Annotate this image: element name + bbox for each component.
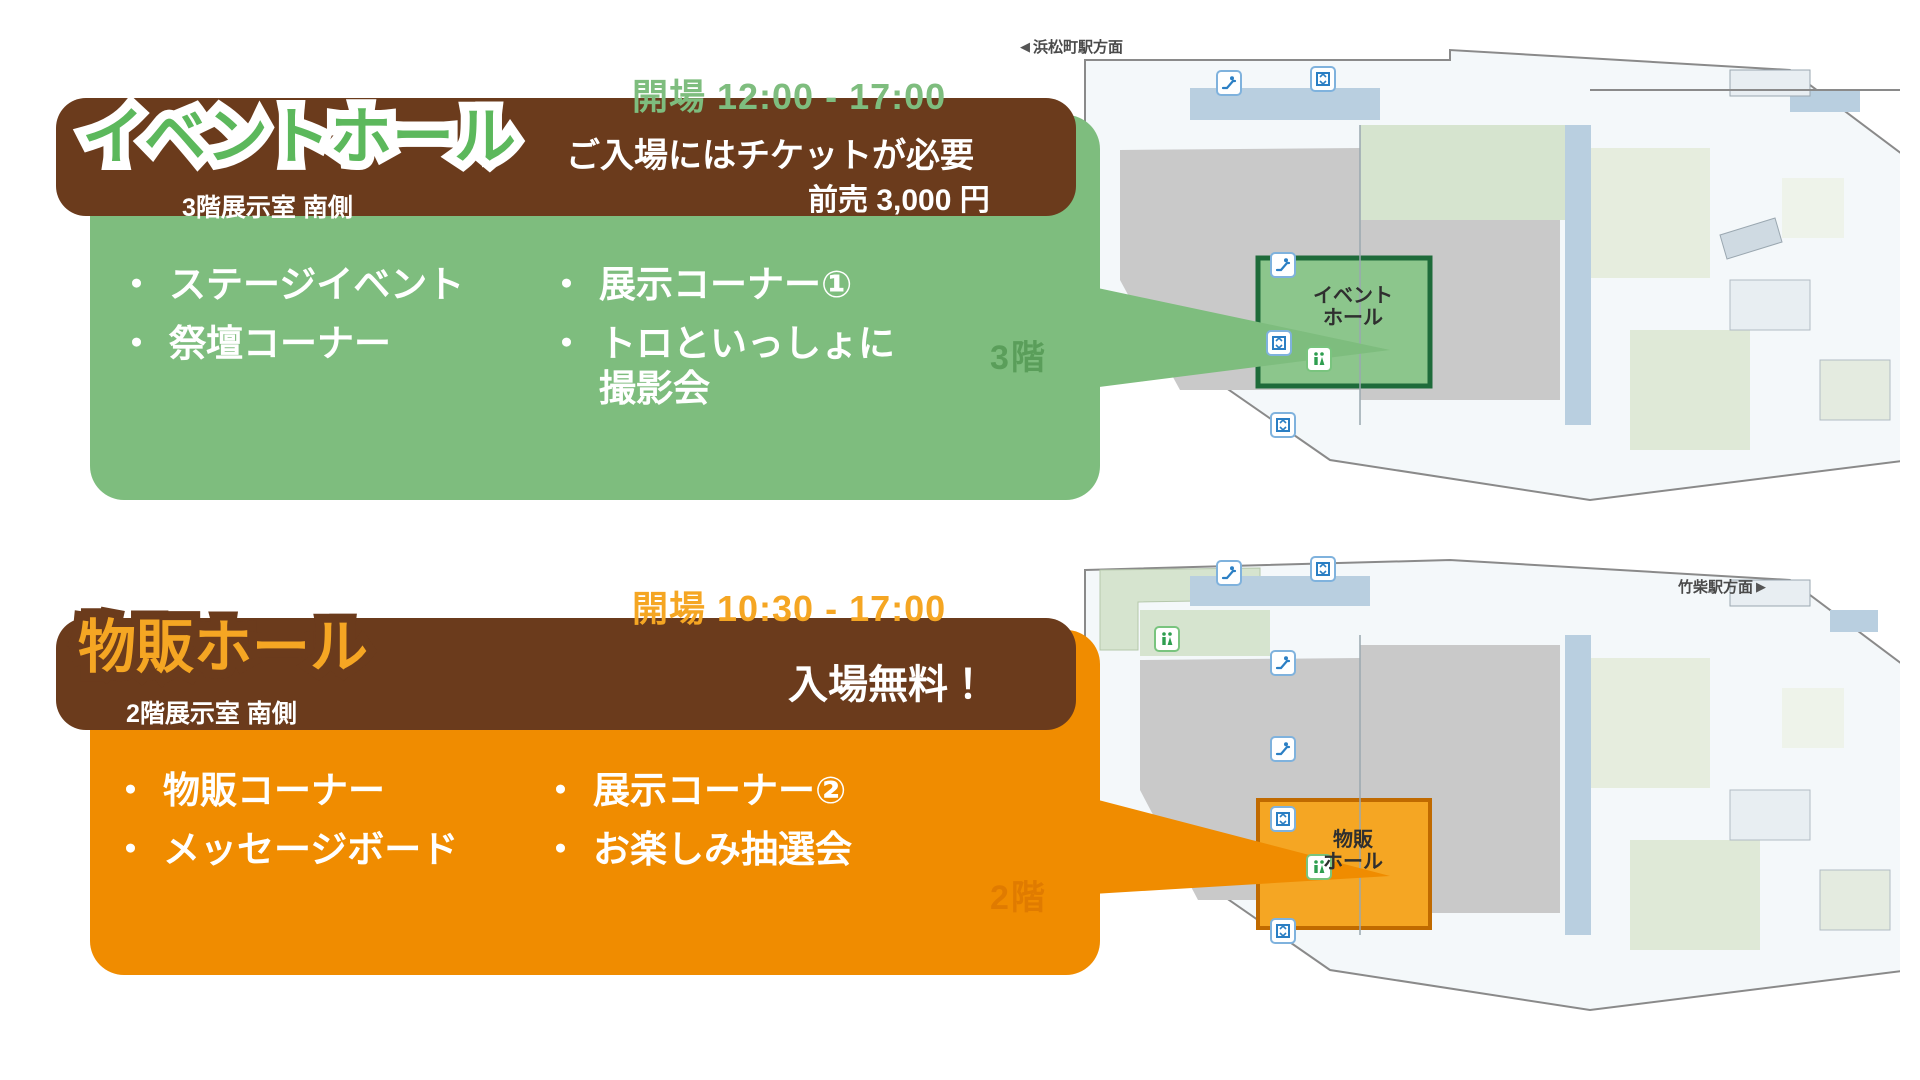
station-tag-label: 竹柴駅方面 [1678,576,1753,597]
goods-hall-subtitle: 2階展示室 南側 [126,694,297,730]
event-hall-notice-price: 前売 3,000 円 [808,175,990,219]
goods-hall-title-fill: 物販ホール [78,600,368,684]
escalator-icon [1270,736,1296,762]
bullet-text: 展示コーナー② [593,768,846,813]
floor-label-3f: 3階 [990,330,1047,379]
map-label-goods-hall: 物販 ホール [1278,830,1428,873]
bullet-text: 物販コーナー [163,768,385,813]
station-tag-takeshiba: 竹柴駅方面 ▶ [1678,576,1766,597]
escalator-icon [1216,70,1242,96]
floor-label-2f: 2階 [990,870,1047,919]
event-hall-title: イベントホール イベントホール [82,86,622,174]
bullet-text: メッセージボード [163,827,458,872]
elevator-icon [1270,412,1296,438]
list-item: ・ お楽しみ抽選会 [542,827,962,872]
bullet-text: 祭壇コーナー [169,321,391,366]
poster-root: イベントホール イベントホール 3階展示室 南側 開場 12:00 - 17:0… [0,0,1920,1080]
elevator-icon [1270,918,1296,944]
event-hall-open-time: 開場 12:00 - 17:00 [632,68,946,120]
escalator-icon [1270,252,1296,278]
goods-hall-bullet-list: ・ 物販コーナー ・ 展示コーナー② ・ メッセージボード ・ お楽しみ抽選会 [112,768,992,872]
list-item: ・ 展示コーナー① [548,262,968,307]
bullet-dot-icon: ・ [548,321,585,366]
list-item: ・ トロといっしょに 撮影会 [548,321,968,411]
list-item: ・ 展示コーナー② [542,768,962,813]
station-tag-label: 浜松町駅方面 [1033,36,1123,57]
bullet-text: トロといっしょに 撮影会 [599,321,895,411]
bullet-dot-icon: ・ [112,827,149,872]
bullet-dot-icon: ・ [548,262,585,307]
escalator-icon [1216,560,1242,586]
bullet-dot-icon: ・ [542,827,579,872]
station-tag-hamamatsucho: ◀ 浜松町駅方面 [1020,36,1123,57]
map-label-event-hall: イベント ホール [1278,286,1428,329]
event-hall-title-fill: イベントホール [82,86,516,176]
elevator-icon [1270,806,1296,832]
list-item: ・ 物販コーナー [112,768,532,813]
bullet-dot-icon: ・ [112,768,149,813]
bullet-dot-icon: ・ [542,768,579,813]
list-item: ・ 祭壇コーナー [118,321,538,411]
escalator-icon [1270,650,1296,676]
bullet-text: 展示コーナー① [599,262,852,307]
event-hall-bullet-list: ・ ステージイベント ・ 展示コーナー① ・ 祭壇コーナー ・ トロといっしょに… [118,262,998,411]
bullet-text: ステージイベント [169,262,464,307]
restroom-icon [1306,346,1332,372]
arrow-right-icon: ▶ [1756,579,1766,595]
elevator-icon [1266,330,1292,356]
event-hall-subtitle: 3階展示室 南側 [182,188,353,224]
goods-hall-notice-free: 入場無料！ [788,652,988,710]
event-hall-notice-ticket: ご入場にはチケットが必要 [566,128,974,177]
arrow-left-icon: ◀ [1020,39,1030,55]
goods-hall-open-time: 開場 10:30 - 17:00 [632,580,946,632]
list-item: ・ メッセージボード [112,827,532,872]
bullet-text: お楽しみ抽選会 [593,827,852,872]
elevator-icon [1310,66,1336,92]
goods-hall-title: 物販ホール 物販ホール [78,600,508,684]
elevator-icon [1310,556,1336,582]
bullet-dot-icon: ・ [118,262,155,307]
bullet-dot-icon: ・ [118,321,155,366]
restroom-icon [1154,626,1180,652]
list-item: ・ ステージイベント [118,262,538,307]
